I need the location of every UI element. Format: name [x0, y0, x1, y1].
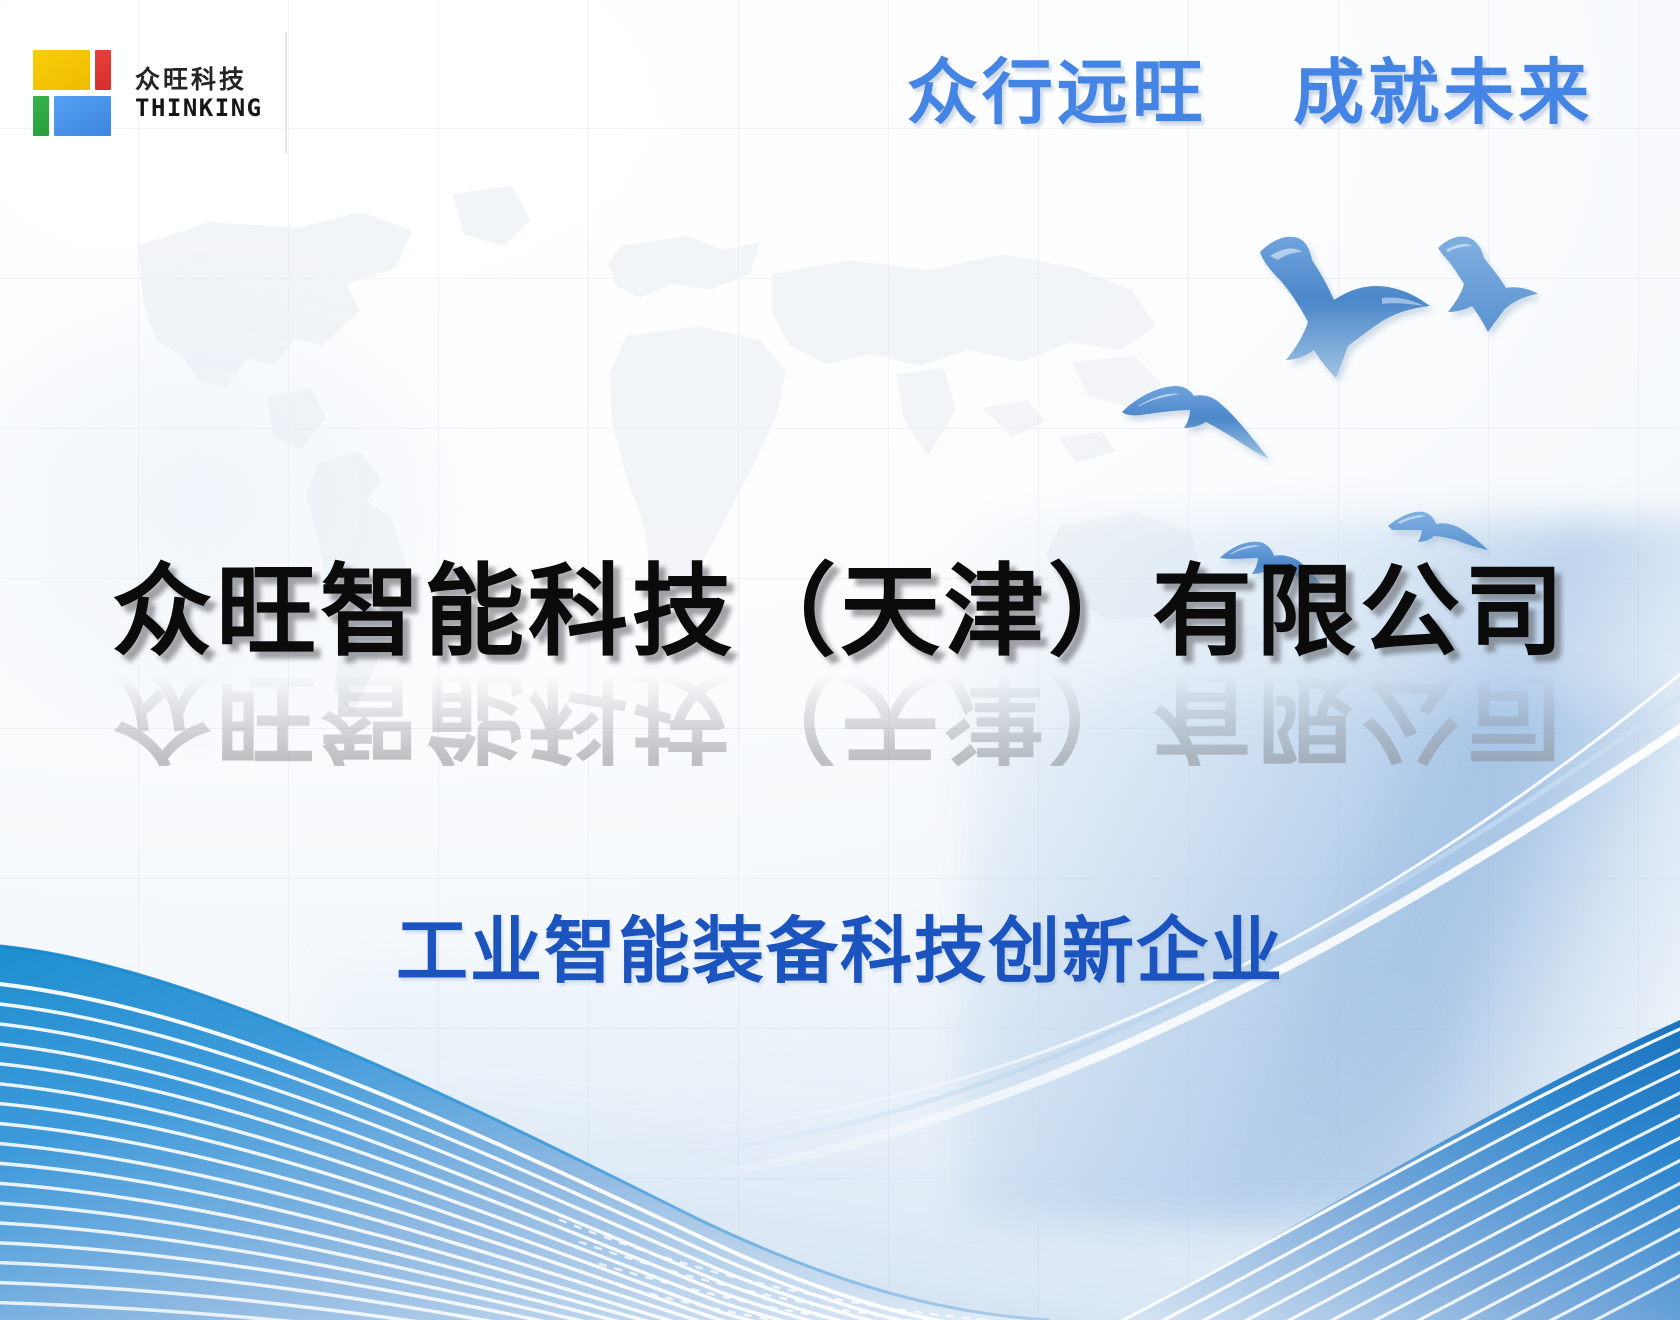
logo-company-name-cn: 众旺科技	[135, 67, 263, 92]
page-title: 众旺智能科技（天津）有限公司	[0, 562, 1680, 662]
logo-wordmark: 众旺科技 THINKING	[135, 67, 263, 120]
bird-icon	[1260, 237, 1430, 378]
logo-company-name-en: THINKING	[135, 96, 263, 120]
page-title-reflection: 众旺智能科技（天津）有限公司	[0, 666, 1680, 766]
logo-blue-block	[54, 96, 111, 136]
slide-canvas: 众旺科技 THINKING 众行远旺 成就未来 众旺智能科技（天津）有限公司 众…	[0, 0, 1680, 1320]
bird-icon	[1122, 386, 1268, 458]
brand-logo[interactable]: 众旺科技 THINKING	[33, 32, 283, 154]
logo-yellow-block	[33, 50, 90, 90]
logo-green-block	[33, 96, 49, 136]
logo-mark-blocks	[33, 48, 121, 140]
header-tagline: 众行远旺 成就未来	[880, 54, 1620, 132]
page-subtitle: 工业智能装备科技创新企业	[0, 892, 1680, 997]
title-block: 众旺智能科技（天津）有限公司 众旺智能科技（天津）有限公司	[0, 562, 1680, 842]
logo-red-block	[95, 50, 111, 90]
bird-icon	[1388, 512, 1488, 550]
bird-icon	[1438, 236, 1538, 332]
